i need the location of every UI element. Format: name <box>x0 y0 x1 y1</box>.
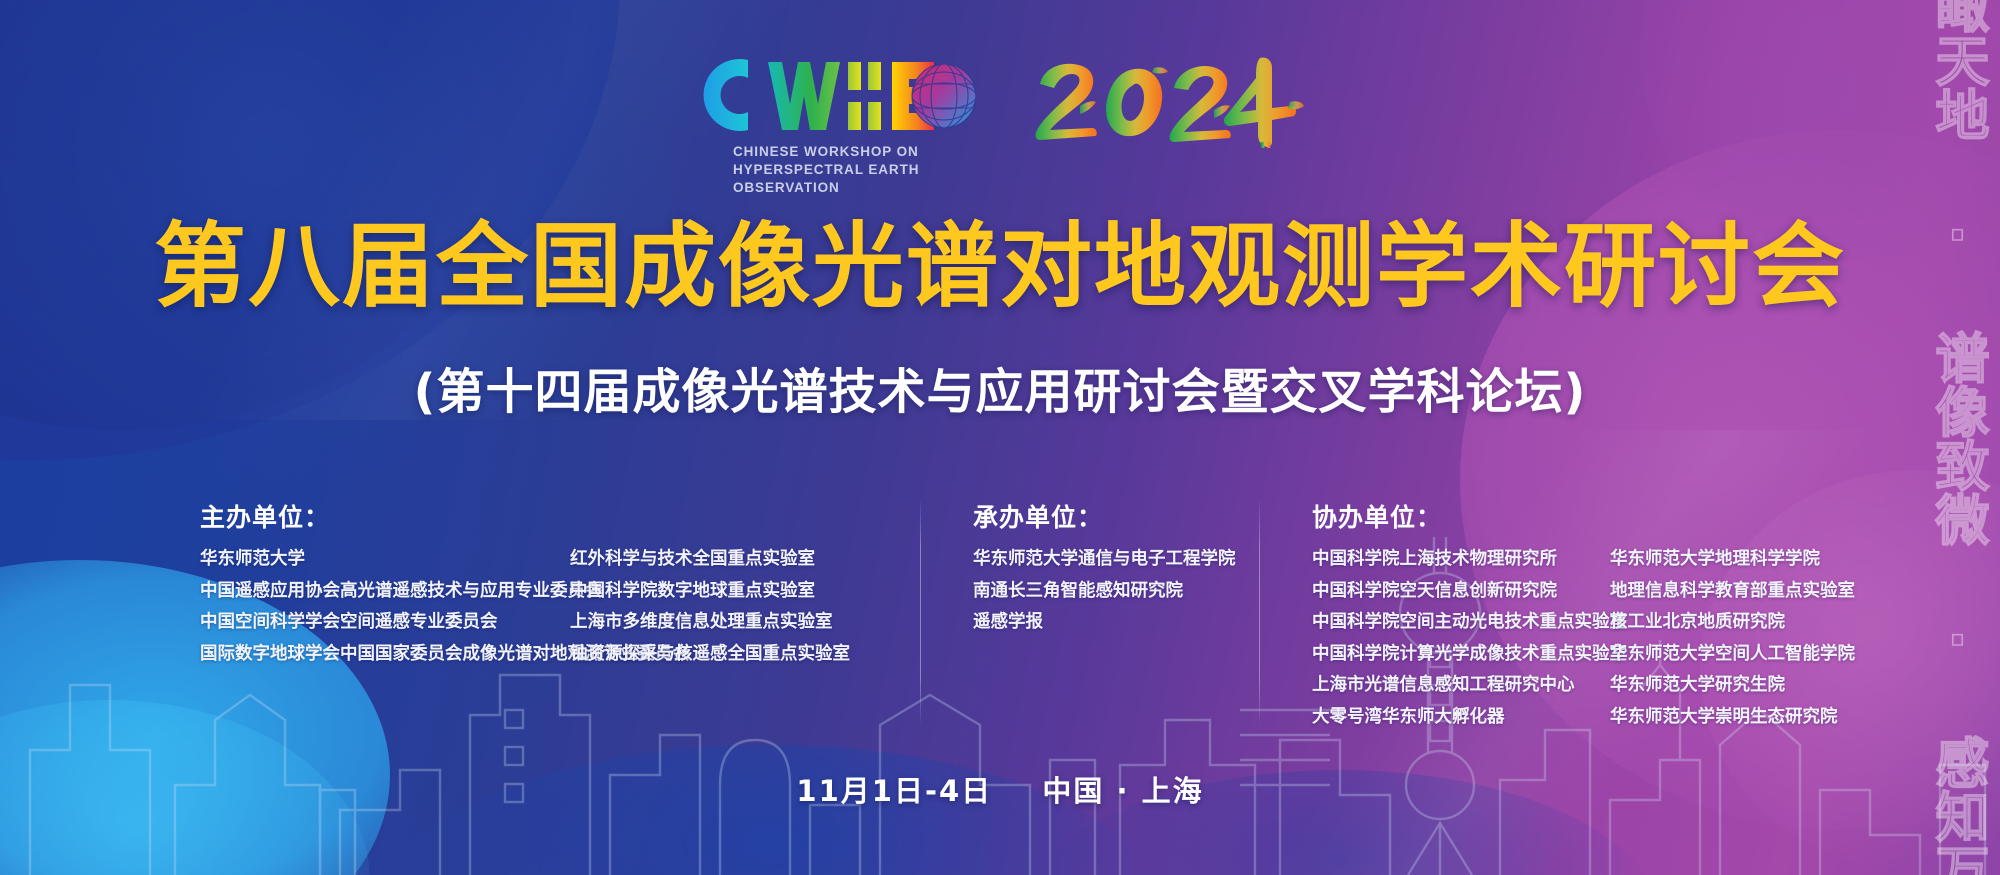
list-item: 中国科学院上海技术物理研究所 <box>1312 551 1610 569</box>
list-item: 中国科学院数字地球重点实验室 <box>570 583 920 601</box>
list-item: 中国科学院空间主动光电技术重点实验室 <box>1312 614 1610 632</box>
cwheo-wordmark-icon <box>696 52 976 138</box>
list-item: 遥感学报 <box>973 614 1236 632</box>
event-date-location: 11月1日-4日 中国 · 上海 <box>0 768 2000 810</box>
cwheo-logo: CHINESE WORKSHOP ON HYPERSPECTRAL EARTH … <box>696 52 976 196</box>
organizer-units-column: 华东师范大学通信与电子工程学院 南通长三角智能感知研究院 遥感学报 <box>973 551 1236 632</box>
page-title: 第八届全国成像光谱对地观测学术研讨会 <box>0 192 2000 325</box>
event-location: 中国 · 上海 <box>1042 774 1203 808</box>
list-item: 华东师范大学 <box>200 551 570 569</box>
list-item: 华东师范大学地理科学学院 <box>1610 551 1855 569</box>
list-item: 中国空间科学学会空间遥感专业委员会 <box>200 614 570 632</box>
list-item: 华东师范大学研究生院 <box>1610 677 1855 695</box>
list-item: 中国遥感应用协会高光谱遥感技术与应用专业委员会 <box>200 583 570 601</box>
conference-banner: CHINESE WORKSHOP ON HYPERSPECTRAL EARTH … <box>0 0 2000 875</box>
list-item: 中国科学院计算光学成像技术重点实验室 <box>1312 646 1610 664</box>
coorganizer-units-column-b: 华东师范大学地理科学学院 地理信息科学教育部重点实验室 核工业北京地质研究院 华… <box>1610 551 1855 726</box>
background-wave-bottom <box>380 745 1160 875</box>
host-units-column-a: 华东师范大学 中国遥感应用协会高光谱遥感技术与应用专业委员会 中国空间科学学会空… <box>200 551 570 663</box>
list-item: 华东师范大学通信与电子工程学院 <box>973 551 1236 569</box>
host-units-heading: 主办单位： <box>200 498 920 534</box>
event-date: 11月1日-4日 <box>796 774 992 808</box>
list-item: 华东师范大学崇明生态研究院 <box>1610 709 1855 727</box>
list-item: 国际数字地球学会中国国家委员会成像光谱对地观测专业委员会 <box>200 646 570 664</box>
list-item: 华东师范大学空间人工智能学院 <box>1610 646 1855 664</box>
logo-row: CHINESE WORKSHOP ON HYPERSPECTRAL EARTH … <box>0 52 2000 196</box>
list-item: 上海市光谱信息感知工程研究中心 <box>1312 677 1610 695</box>
host-units-column-b: 红外科学与技术全国重点实验室 中国科学院数字地球重点实验室 上海市多维度信息处理… <box>570 551 920 663</box>
logo-caption: CHINESE WORKSHOP ON HYPERSPECTRAL EARTH … <box>733 143 976 196</box>
list-item: 地理信息科学教育部重点实验室 <box>1610 583 1855 601</box>
list-item: 核工业北京地质研究院 <box>1610 614 1855 632</box>
list-item: 铀资源探采与核遥感全国重点实验室 <box>570 646 920 664</box>
list-item: 南通长三角智能感知研究院 <box>973 583 1236 601</box>
list-item: 上海市多维度信息处理重点实验室 <box>570 614 920 632</box>
organizer-units-heading: 承办单位： <box>973 498 1259 534</box>
page-subtitle: (第十四届成像光谱技术与应用研讨会暨交叉学科论坛) <box>0 352 2000 422</box>
coorganizer-units-column-a: 中国科学院上海技术物理研究所 中国科学院空天信息创新研究院 中国科学院空间主动光… <box>1312 551 1610 726</box>
list-item: 大零号湾华东师大孵化器 <box>1312 709 1610 727</box>
organizer-units-group: 承办单位： 华东师范大学通信与电子工程学院 南通长三角智能感知研究院 遥感学报 <box>921 498 1259 632</box>
organizers-section: 主办单位： 华东师范大学 中国遥感应用协会高光谱遥感技术与应用专业委员会 中国空… <box>200 498 1820 726</box>
host-units-group: 主办单位： 华东师范大学 中国遥感应用协会高光谱遥感技术与应用专业委员会 中国空… <box>200 498 920 663</box>
coorganizer-units-heading: 协办单位： <box>1312 498 1820 534</box>
year-2024-brush-icon <box>1034 54 1304 148</box>
list-item: 红外科学与技术全国重点实验室 <box>570 551 920 569</box>
coorganizer-units-group: 协办单位： 中国科学院上海技术物理研究所 中国科学院空天信息创新研究院 中国科学… <box>1260 498 1820 726</box>
list-item: 中国科学院空天信息创新研究院 <box>1312 583 1610 601</box>
